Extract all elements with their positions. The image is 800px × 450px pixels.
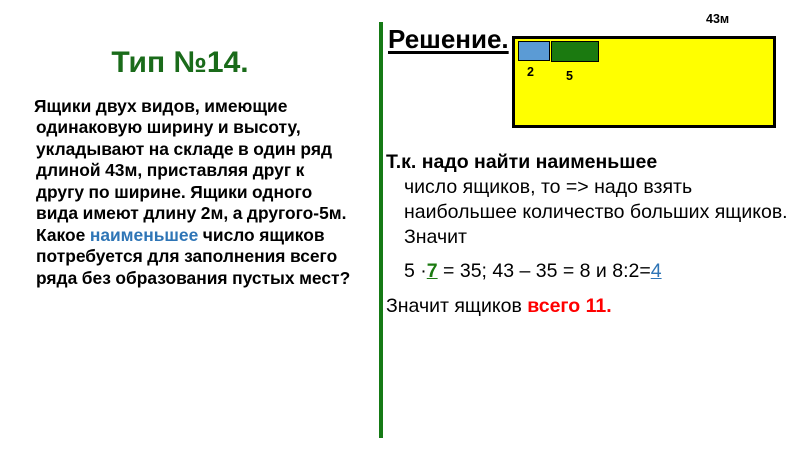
vertical-divider xyxy=(379,22,383,438)
solution-body: Т.к. надо найти наименьшее число ящиков,… xyxy=(386,150,796,319)
equation-part-2: = 35; 43 – 35 = 8 и 8:2= xyxy=(438,260,651,282)
problem-text-before: Ящики двух видов, имеющие одинаковую шир… xyxy=(34,96,346,245)
page-title: Тип №14. xyxy=(0,46,360,79)
solution-conclusion: Значит ящиков всего 11. xyxy=(386,294,796,319)
solution-heading: Решение. xyxy=(388,25,509,54)
diagram-row-rectangle: 2 5 xyxy=(512,36,776,128)
conclusion-answer: всего 11. xyxy=(527,295,611,317)
solution-reason-bold: Т.к. надо найти наименьшее xyxy=(386,150,796,175)
diagram-large-box xyxy=(551,41,599,62)
diagram-small-box-label: 2 xyxy=(527,65,534,79)
row-diagram: 43м 2 5 xyxy=(510,12,778,130)
problem-statement: Ящики двух видов, имеющие одинаковую шир… xyxy=(36,96,354,289)
solution-reason-rest: число ящиков, то => надо взять наибольше… xyxy=(404,175,796,250)
diagram-small-box xyxy=(518,41,550,61)
conclusion-prefix: Значит ящиков xyxy=(386,295,527,317)
solution-panel: Решение. 43м 2 5 Т.к. надо найти наимень… xyxy=(386,0,800,450)
equation-part-1: 5 · xyxy=(404,260,427,282)
problem-panel: Тип №14. Ящики двух видов, имеющие одина… xyxy=(0,0,375,450)
solution-equation: 5 ·7 = 35; 43 – 35 = 8 и 8:2=4 xyxy=(404,259,796,284)
equation-factor-7: 7 xyxy=(427,260,438,282)
diagram-total-length-label: 43м xyxy=(706,12,729,26)
diagram-large-box-label: 5 xyxy=(566,69,573,83)
equation-quotient-4: 4 xyxy=(651,260,662,282)
problem-keyword-naimenshee: наименьшее xyxy=(90,225,198,245)
